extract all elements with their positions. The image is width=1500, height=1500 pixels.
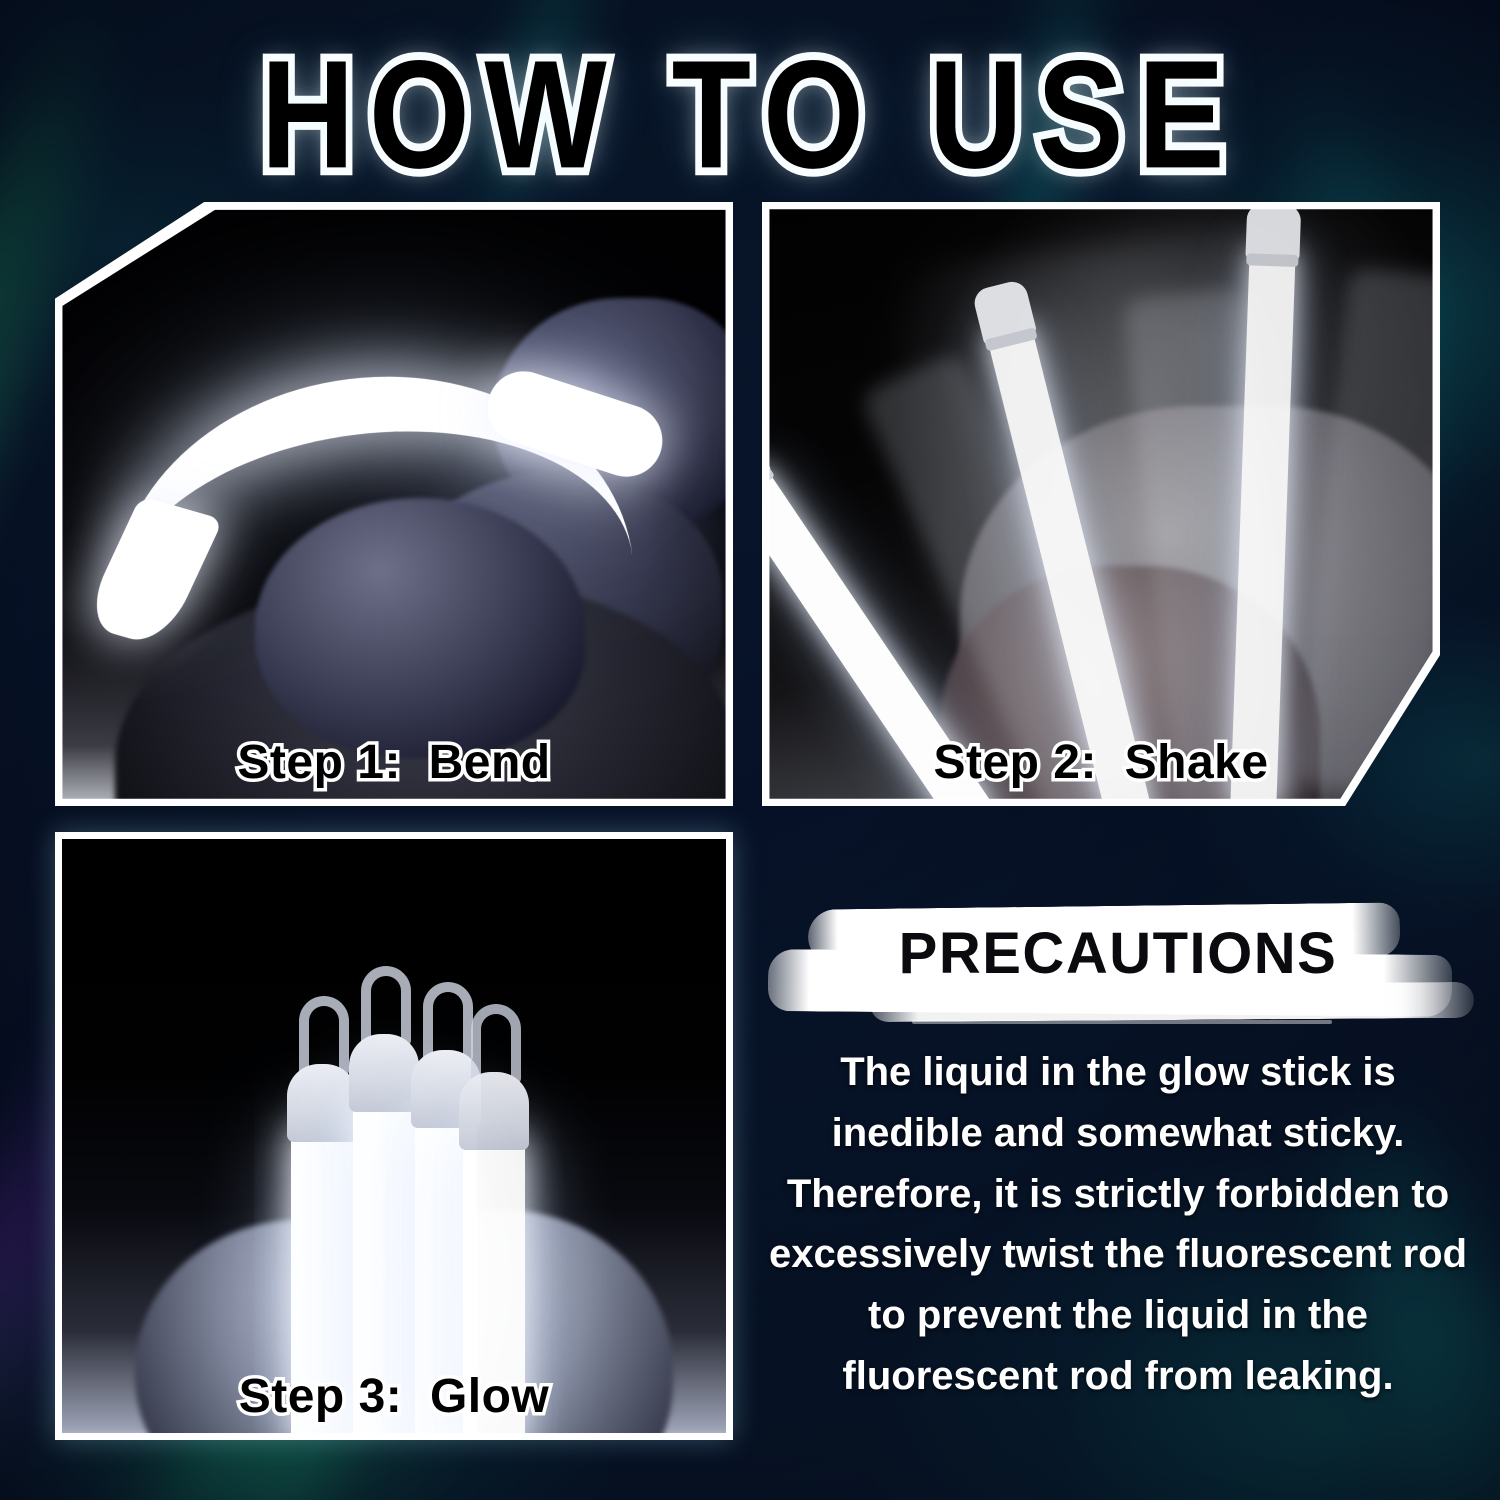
stick-ring — [1246, 253, 1298, 267]
step-3-panel: Step 3: Glow — [55, 832, 733, 1440]
precautions-heading: PRECAUTIONS — [762, 920, 1474, 987]
stick-cap — [459, 1072, 529, 1150]
finger-shape — [255, 498, 585, 758]
stick-cap — [287, 1064, 357, 1142]
page-title-text: HOW TO USE — [261, 38, 1239, 192]
brush-flick-icon — [912, 1020, 1332, 1024]
brush-stroke-icon — [870, 982, 1474, 1022]
step-3-caption: Step 3: Glow — [55, 1369, 733, 1424]
step-2-panel: Step 2: Shake — [762, 202, 1440, 806]
how-to-use-poster: HOW TO USE Step 1: Bend — [0, 0, 1500, 1500]
precautions-banner: PRECAUTIONS — [762, 880, 1474, 1030]
precautions-section: PRECAUTIONS The liquid in the glow stick… — [762, 880, 1474, 1407]
step-2-photo-clip — [762, 202, 1440, 806]
step-2-caption: Step 2: Shake — [762, 735, 1440, 790]
stick-cap — [349, 1034, 419, 1112]
page-title: HOW TO USE — [0, 38, 1500, 164]
step-1-panel: Step 1: Bend — [55, 202, 733, 806]
stick-cap — [1245, 203, 1301, 261]
step-2-photo — [762, 202, 1440, 806]
step-1-photo — [55, 202, 733, 806]
step-3-photo — [55, 832, 733, 1440]
precautions-body-text: The liquid in the glow stick is inedible… — [762, 1042, 1474, 1407]
step-1-caption: Step 1: Bend — [55, 735, 733, 790]
step-1-photo-clip — [55, 202, 733, 806]
